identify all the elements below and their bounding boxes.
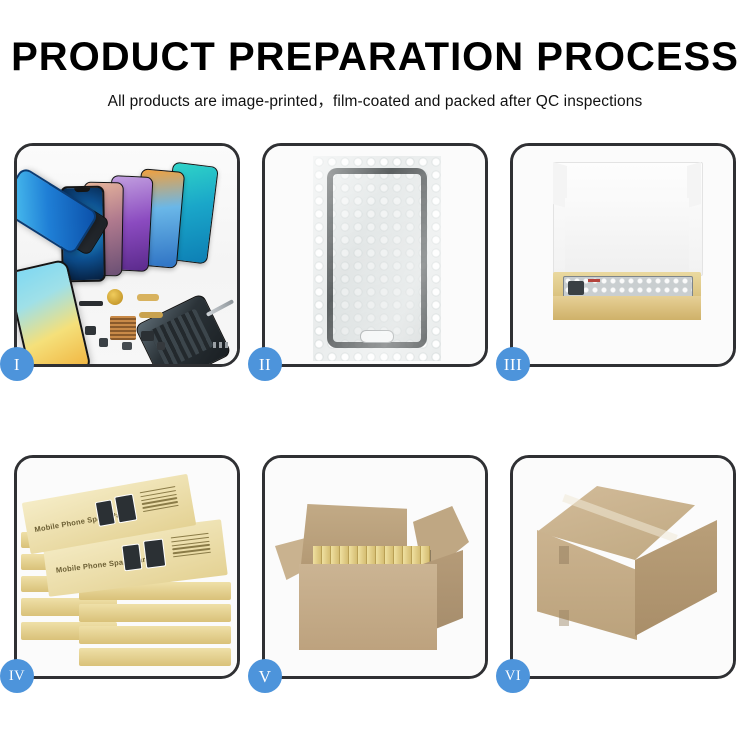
box-phone-image-1b — [114, 494, 137, 524]
box-lid-right-flap — [687, 162, 701, 208]
speaker-part-icon — [79, 301, 103, 306]
step-badge-6: VI — [496, 659, 530, 693]
kraft-box-front-face — [553, 296, 701, 320]
step-image-5 — [265, 458, 485, 676]
step-panel-1[interactable]: I — [14, 143, 240, 367]
steps-grid: I II — [14, 143, 736, 679]
page-title: PRODUCT PREPARATION PROCESS — [0, 36, 750, 78]
step-image-2 — [265, 146, 485, 364]
carton-seam-upper — [559, 546, 569, 564]
step-panel-2[interactable]: II — [262, 143, 488, 367]
steps-row-2: Mobile Phone Spare Parts Mobile Phone Sp… — [14, 455, 736, 679]
chip-part-2-icon — [99, 338, 108, 347]
box-phone-image-1a — [95, 499, 116, 527]
carton-front-face — [299, 564, 437, 650]
step-panel-5[interactable]: V — [262, 455, 488, 679]
step-badge-3: III — [496, 347, 530, 381]
flex-cable-1-icon — [137, 294, 159, 301]
step-image-1 — [17, 146, 237, 364]
stacked-box-edge-8 — [79, 626, 231, 644]
chip-part-4-icon — [122, 342, 132, 350]
phone-notch-icon — [74, 188, 90, 192]
step-badge-5: V — [248, 659, 282, 693]
chip-part-1-icon — [85, 326, 96, 335]
step-panel-4[interactable]: Mobile Phone Spare Parts Mobile Phone Sp… — [14, 455, 240, 679]
step-panel-3[interactable]: III — [510, 143, 736, 367]
step-panel-6[interactable]: VI — [510, 455, 736, 679]
flex-cable-2-icon — [139, 312, 163, 318]
step-image-3 — [513, 146, 733, 364]
box-spec-lines-1 — [140, 486, 179, 515]
box-phone-image-2b — [143, 538, 166, 568]
chip-part-5-icon — [157, 342, 165, 350]
carton-seam-lower — [559, 610, 569, 626]
page-subtitle: All products are image-printed，film-coat… — [0, 89, 750, 111]
bubble-wrap-gloss — [313, 156, 441, 361]
step-image-4: Mobile Phone Spare Parts Mobile Phone Sp… — [17, 458, 237, 676]
step-badge-4: IV — [0, 659, 34, 693]
stacked-box-edge-7 — [79, 604, 231, 622]
header: PRODUCT PREPARATION PROCESS All products… — [0, 0, 750, 111]
connector-grid-icon — [110, 316, 136, 340]
stacked-box-edge-9 — [79, 648, 231, 666]
box-foam-liner — [565, 198, 689, 276]
box-phone-image-2a — [121, 543, 142, 571]
step-image-6 — [513, 458, 733, 676]
box-spec-lines-2 — [171, 533, 211, 560]
product-preparation-infographic: PRODUCT PREPARATION PROCESS All products… — [0, 0, 750, 750]
screws-icon — [213, 342, 231, 348]
box-stack: Mobile Phone Spare Parts Mobile Phone Sp… — [19, 474, 237, 670]
step-badge-2: II — [248, 347, 282, 381]
coil-part-icon — [107, 289, 123, 305]
steps-row-1: I II — [14, 143, 736, 367]
label-sticker-icon — [588, 279, 600, 282]
chip-part-3-icon — [141, 331, 154, 341]
step-badge-1: I — [0, 347, 34, 381]
